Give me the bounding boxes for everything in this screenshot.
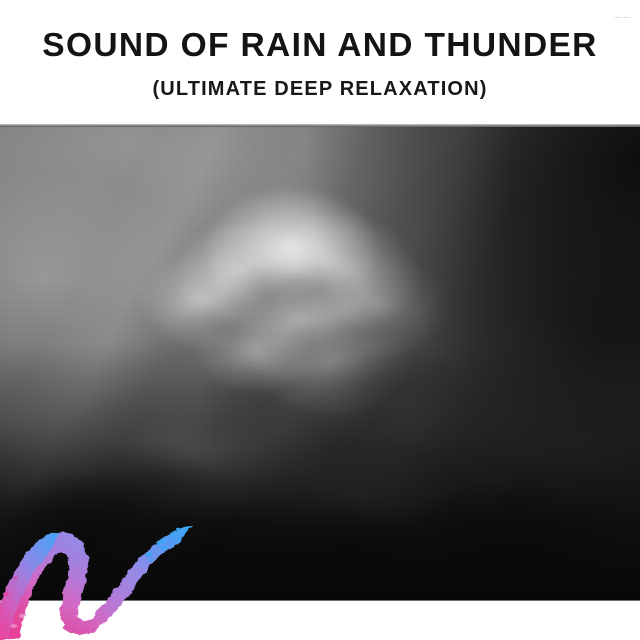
footer-band — [0, 601, 640, 640]
album-cover: SOUND OF RAIN AND THUNDER (ULTIMATE DEEP… — [0, 0, 640, 640]
header-band: SOUND OF RAIN AND THUNDER (ULTIMATE DEEP… — [0, 0, 640, 124]
cloud-artwork-image — [0, 124, 640, 601]
corner-mark-text: —— —— — [615, 14, 631, 20]
artwork-top-edge — [0, 124, 640, 127]
album-subtitle: (ULTIMATE DEEP RELAXATION) — [0, 76, 640, 102]
album-title: SOUND OF RAIN AND THUNDER — [0, 26, 640, 66]
grayscale-layer — [0, 124, 640, 601]
